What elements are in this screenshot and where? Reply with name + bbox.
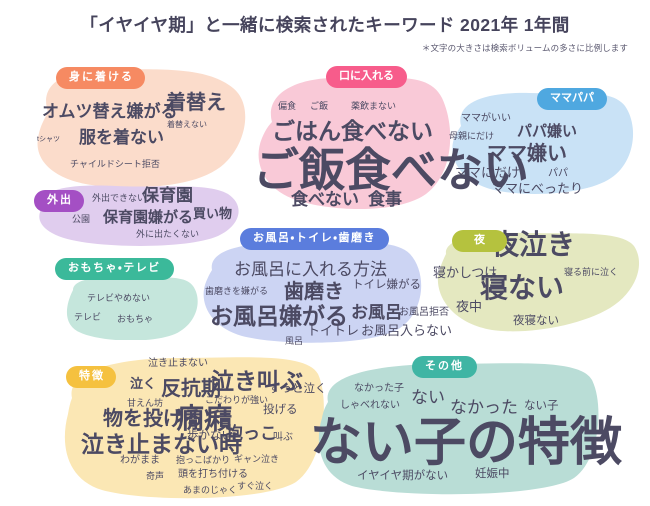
word-yonaka[interactable]: 夜中: [456, 300, 482, 313]
word-kaimono[interactable]: 買い物: [193, 207, 232, 220]
word-nakiyamanai[interactable]: 泣き止まない: [148, 359, 208, 369]
word-kouen[interactable]: 公園: [72, 215, 90, 224]
word-henshoku[interactable]: 偏食: [278, 102, 296, 111]
word-sakebu[interactable]: 叫ぶ: [273, 433, 293, 443]
word-omocha[interactable]: おもちゃ: [117, 315, 153, 324]
word-t-shirt[interactable]: tシャツ: [37, 136, 60, 143]
word-kisei[interactable]: 奇声: [146, 472, 164, 481]
cluster-wear-badge[interactable]: 身に着ける: [56, 67, 145, 89]
word-nageru[interactable]: 投げる: [263, 405, 298, 417]
word-gyan-naki[interactable]: ギャン泣き: [234, 455, 279, 464]
cluster-bath: お風呂・トイレ・歯磨き お風呂に入れる方法 歯磨きを嫌がる 歯磨き トイレ嫌がる…: [196, 228, 428, 346]
word-hahaoya-ni-dake[interactable]: 母親にだけ: [449, 132, 494, 141]
cluster-other: その他 なかった子 ない しゃべれない なかった ない子 ない子の特徴 イヤイヤ…: [312, 356, 602, 498]
word-toire-iyagaru[interactable]: トイレ嫌がる: [352, 280, 421, 292]
word-furo[interactable]: 風呂: [285, 337, 303, 346]
word-iyaiyaki-ga-nai[interactable]: イヤイヤ期がない: [357, 471, 448, 483]
word-nai-ko[interactable]: ない子: [524, 401, 559, 413]
word-toitore[interactable]: トイトレ: [307, 324, 359, 337]
word-nai-ko-no-tokuchou[interactable]: ない子の特徴: [310, 417, 622, 469]
word-kanshaku[interactable]: 癇癪: [176, 405, 232, 433]
word-nakiyamanai-toki[interactable]: 泣き止まない時: [81, 433, 242, 456]
word-nai[interactable]: ない: [411, 389, 445, 406]
cluster-mouth: 口に入れる 偏食 ご飯 薬飲まない ごはん食べない ご飯食べない 食べない 食事: [248, 66, 453, 211]
word-mama-kirai[interactable]: ママ嫌い: [487, 144, 567, 164]
word-nenai[interactable]: 寝ない: [480, 274, 564, 302]
cluster-bath-badge[interactable]: お風呂・トイレ・歯磨き: [240, 228, 389, 250]
word-amanojaku[interactable]: あまのじゃく: [183, 486, 237, 495]
word-shokuji[interactable]: 食事: [368, 191, 402, 208]
word-papa-kirai[interactable]: パパ嫌い: [517, 124, 577, 139]
cluster-traits-badge[interactable]: 特徴: [66, 366, 116, 388]
word-gohan-tabenai-hira[interactable]: ごはん食べない: [272, 120, 433, 143]
word-sugu-naku[interactable]: すぐ泣く: [237, 482, 273, 491]
word-ofuro-hairanai[interactable]: お風呂入らない: [361, 324, 452, 337]
cluster-mouth-badge[interactable]: 口に入れる: [326, 66, 407, 88]
word-dakko-bakari[interactable]: 抱っこばかり: [176, 456, 230, 465]
cluster-night-badge[interactable]: 夜: [452, 230, 507, 252]
word-hoikuen[interactable]: 保育園: [142, 187, 193, 204]
word-gohan[interactable]: ご飯: [310, 102, 328, 111]
word-hoikuen-iyagaru[interactable]: 保育園嫌がる: [103, 210, 193, 225]
cluster-night: 夜 夜泣き 寝かしつけ 寝る前に泣く 寝ない 夜中 夜寝ない: [430, 230, 645, 335]
word-papa[interactable]: パパ: [548, 169, 568, 179]
word-omutsu-kaeiyagaru[interactable]: オムツ替え嫌がる: [42, 103, 178, 120]
word-mama-ni-bettari[interactable]: ママにべったり: [492, 182, 583, 195]
word-naku[interactable]: 泣く: [130, 377, 156, 390]
word-soto-ni-detakunai[interactable]: 外に出たくない: [136, 230, 199, 239]
word-ninshinchuu[interactable]: 妊娠中: [475, 469, 510, 481]
word-neru-mae-ni-naku[interactable]: 寝る前に泣く: [564, 268, 618, 277]
word-ofuro[interactable]: お風呂: [351, 304, 402, 321]
word-hamigaki[interactable]: 歯磨き: [284, 282, 344, 302]
word-mama-ga-ii[interactable]: ママがいい: [461, 114, 511, 124]
word-kusuri-nomanai[interactable]: 薬飲まない: [351, 102, 396, 111]
cluster-toys-badge[interactable]: おもちゃ・テレビ: [55, 258, 174, 280]
word-atama-o-uchitsukeru[interactable]: 頭を打ち付ける: [178, 470, 248, 480]
word-ofuro-ni-ireru-houhou[interactable]: お風呂に入れる方法: [234, 261, 387, 278]
word-mama-ni-dake[interactable]: ママにだけ: [455, 166, 520, 179]
word-wagamama[interactable]: わがまま: [120, 456, 160, 466]
word-terebi-yamenai[interactable]: テレビやめない: [87, 294, 150, 303]
word-zutto-naku[interactable]: ずっと泣く: [269, 384, 327, 396]
cluster-other-badge[interactable]: その他: [412, 356, 477, 378]
word-kigae[interactable]: 着替え: [166, 93, 226, 113]
word-hamigaki-o-iyagaru[interactable]: 歯磨きを嫌がる: [205, 287, 268, 296]
cluster-outing-badge[interactable]: 外出: [34, 190, 84, 212]
cluster-toys: おもちゃ・テレビ テレビやめない テレビ おもちゃ: [45, 258, 205, 340]
header: 「イヤイヤ期」と一緒に検索されたキーワード 2021年 1年間 ＊文字の大きさは…: [0, 0, 650, 62]
word-terebi[interactable]: テレビ: [74, 313, 101, 322]
cluster-traits: 特徴 泣き止まない 泣く 反抗期 泣き叫ぶ ずっと泣く 甘えん坊 こだわりが強い…: [58, 352, 328, 502]
word-amaenbou[interactable]: 甘えん坊: [127, 399, 163, 408]
word-nakatta-ko[interactable]: なかった子: [354, 384, 404, 394]
word-shaberenai[interactable]: しゃべれない: [340, 401, 400, 411]
word-ofuro-kyohi[interactable]: お風呂拒否: [399, 308, 449, 318]
word-yoru-nenai[interactable]: 夜寝ない: [513, 316, 559, 328]
cluster-parents-badge[interactable]: ママパパ: [537, 88, 607, 110]
word-fuku-o-kinai[interactable]: 服を着ない: [79, 129, 164, 146]
page-subtitle-note: ＊文字の大きさは検索ボリュームの多さに比例します: [422, 42, 628, 54]
cluster-wear: 身に着ける オムツ替え嫌がる 着替え 着替えない tシャツ 服を着ない チャイル…: [28, 66, 253, 190]
word-childseat-kyohi[interactable]: チャイルドシート拒否: [70, 160, 160, 169]
page-title: 「イヤイヤ期」と一緒に検索されたキーワード 2021年 1年間: [0, 12, 650, 37]
word-kigaenai[interactable]: 着替えない: [167, 121, 207, 129]
word-tabenai[interactable]: 食べない: [291, 191, 359, 208]
word-gaishutsu-dekinai[interactable]: 外出できない: [92, 194, 146, 203]
